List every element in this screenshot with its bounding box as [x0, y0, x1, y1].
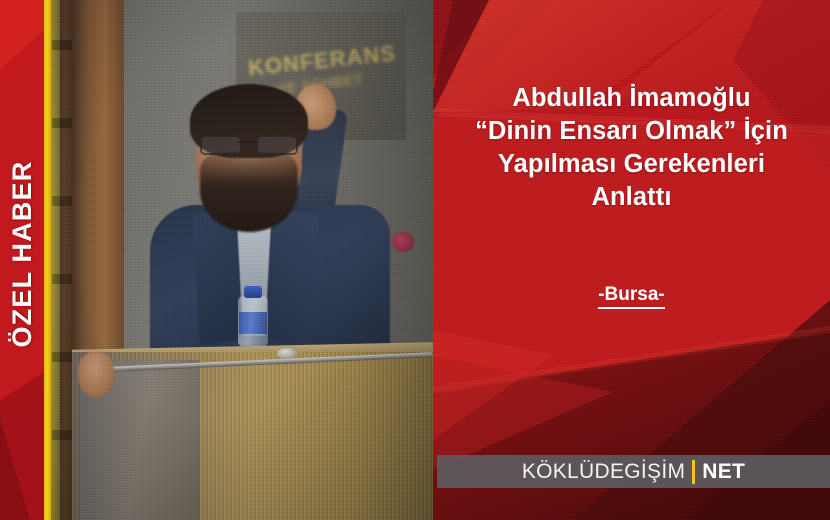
water-bottle-label — [239, 312, 267, 334]
news-thumbnail-card: KONFERANS VE SOHBET — [0, 0, 830, 520]
special-news-badge: ÖZEL HABER — [0, 0, 44, 520]
speaker-glasses — [200, 135, 298, 151]
glasses-lens-left — [200, 135, 242, 155]
pillar-notch — [52, 352, 72, 362]
speaker-hand-on-podium — [78, 352, 114, 398]
red-geometric-facets — [433, 0, 830, 520]
watermark-logo: KÖKLÜDEGİŞİM NET — [522, 460, 745, 484]
location-subtitle-text: -Bursa- — [598, 284, 665, 309]
microphone-joint — [277, 348, 297, 359]
pillar-notch — [52, 274, 72, 284]
special-news-badge-label: ÖZEL HABER — [0, 24, 44, 484]
location-subtitle: -Bursa- — [433, 284, 830, 306]
speaker-lapel-right — [265, 208, 319, 346]
red-title-panel — [433, 0, 830, 520]
wall-panel-brown — [72, 0, 124, 372]
conference-photo: KONFERANS VE SOHBET — [0, 0, 433, 520]
watermark-tld: NET — [702, 460, 745, 484]
watermark-site-name: KÖKLÜDEGİŞİM — [522, 460, 685, 484]
badge-yellow-stripe — [44, 0, 51, 520]
headline-line-2: “Dinin Ensarı Olmak” İçin — [433, 115, 830, 148]
glasses-lens-right — [256, 135, 298, 155]
microphone-head — [392, 232, 414, 252]
pillar-notch — [52, 430, 72, 440]
pillar-notch — [52, 196, 72, 206]
watermark-divider — [692, 460, 695, 484]
headline: Abdullah İmamoğlu “Dinin Ensarı Olmak” İ… — [433, 82, 830, 214]
headline-line-1: Abdullah İmamoğlu — [433, 82, 830, 115]
headline-line-3: Yapılması Gerekenleri — [433, 148, 830, 181]
pillar-notch — [52, 40, 72, 50]
site-watermark-bar: KÖKLÜDEGİŞİM NET — [437, 455, 830, 488]
pillar-notch — [52, 118, 72, 128]
glasses-bridge — [238, 141, 256, 143]
water-bottle-cap — [244, 286, 262, 298]
speaker-beard — [200, 150, 298, 232]
headline-line-4: Anlattı — [433, 181, 830, 214]
